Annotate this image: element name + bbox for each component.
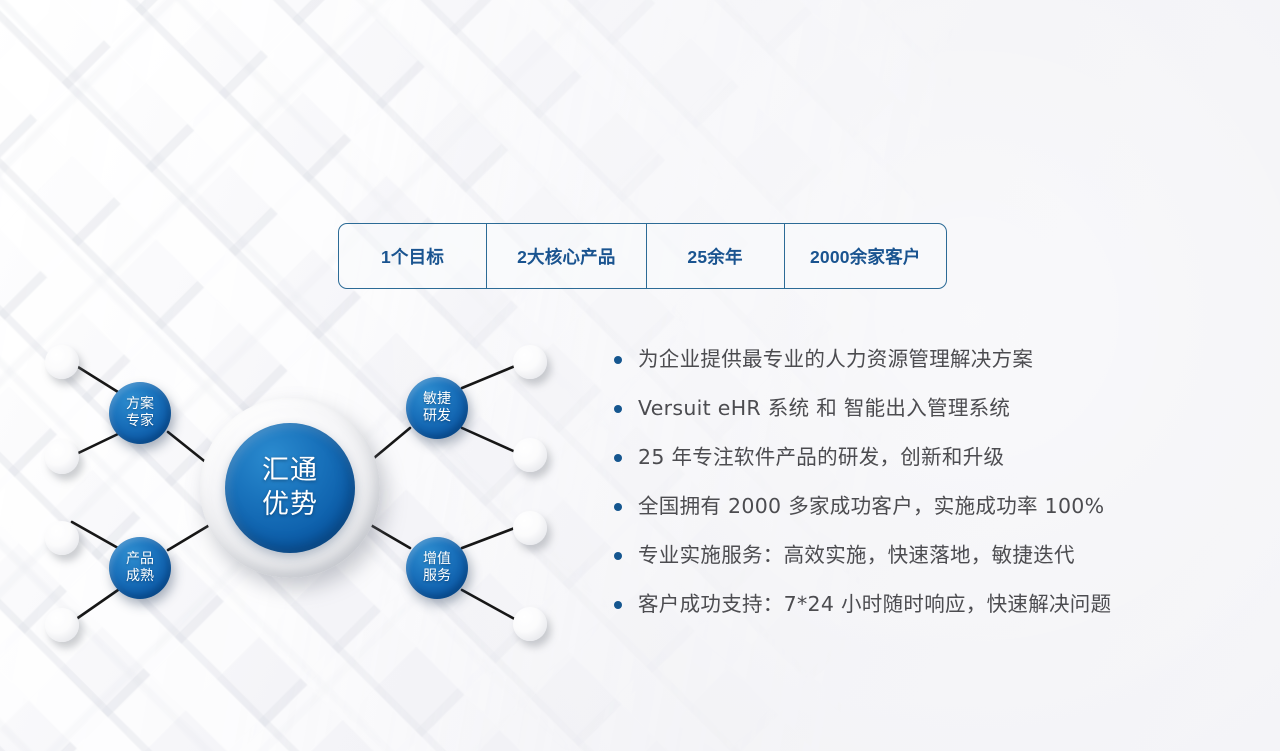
node-label-line2: 成熟 (126, 568, 154, 585)
diagram-hub[interactable]: 汇通 优势 (200, 398, 380, 578)
endpoint-sphere (45, 345, 79, 379)
node-label-line2: 研发 (423, 408, 451, 425)
bullet-dot-icon (614, 503, 622, 511)
node-label-line2: 专家 (126, 413, 154, 430)
node-label-line1: 产品 (126, 551, 154, 568)
stat-cell-goal[interactable]: 1个目标 (339, 224, 487, 288)
node-agile-rd[interactable]: 敏捷 研发 (406, 377, 468, 439)
list-item: 为企业提供最专业的人力资源管理解决方案 (614, 345, 1234, 394)
bullet-dot-icon (614, 405, 622, 413)
endpoint-sphere (45, 521, 79, 555)
hub-label-line2: 优势 (262, 488, 318, 522)
hub-core: 汇通 优势 (225, 423, 355, 553)
endpoint-sphere (45, 440, 79, 474)
endpoint-sphere (513, 511, 547, 545)
connector-line (72, 590, 118, 622)
list-item: 专业实施服务：高效实施，快速落地，敏捷迭代 (614, 541, 1234, 590)
endpoint-sphere (513, 438, 547, 472)
stat-label: 25余年 (687, 244, 742, 269)
endpoint-sphere (513, 345, 547, 379)
node-label-line1: 敏捷 (423, 391, 451, 408)
connector-line (462, 364, 520, 388)
list-item: 全国拥有 2000 多家成功客户，实施成功率 100% (614, 492, 1234, 541)
connector-line (462, 526, 520, 548)
stat-label: 1个目标 (381, 244, 444, 269)
connector-line (462, 428, 520, 454)
list-item-label: 全国拥有 2000 多家成功客户，实施成功率 100% (638, 492, 1104, 520)
stat-cell-years[interactable]: 25余年 (647, 224, 785, 288)
node-label-line2: 服务 (423, 568, 451, 585)
node-label-line1: 增值 (423, 551, 451, 568)
node-plan-expert[interactable]: 方案 专家 (109, 382, 171, 444)
list-item: 25 年专注软件产品的研发，创新和升级 (614, 443, 1234, 492)
stat-cell-products[interactable]: 2大核心产品 (487, 224, 647, 288)
benefits-bullet-list: 为企业提供最专业的人力资源管理解决方案 Versuit eHR 系统 和 智能出… (614, 345, 1234, 639)
list-item-label: Versuit eHR 系统 和 智能出入管理系统 (638, 394, 1010, 422)
stat-bar: 1个目标 2大核心产品 25余年 2000余家客户 (338, 223, 947, 289)
bullet-dot-icon (614, 454, 622, 462)
list-item-label: 专业实施服务：高效实施，快速落地，敏捷迭代 (638, 541, 1075, 569)
hub-label-line1: 汇通 (262, 454, 318, 488)
list-item: Versuit eHR 系统 和 智能出入管理系统 (614, 394, 1234, 443)
stat-label: 2大核心产品 (517, 244, 615, 269)
node-mature-product[interactable]: 产品 成熟 (109, 537, 171, 599)
node-label-line1: 方案 (126, 396, 154, 413)
connector-line (462, 590, 520, 622)
bullet-dot-icon (614, 356, 622, 364)
connector-line (72, 522, 118, 548)
endpoint-sphere (45, 608, 79, 642)
list-item: 客户成功支持：7*24 小时随时响应，快速解决问题 (614, 590, 1234, 639)
slide-canvas: 1个目标 2大核心产品 25余年 2000余家客户 为企业提供最专业的人力资源管… (0, 0, 1280, 751)
node-value-service[interactable]: 增值 服务 (406, 537, 468, 599)
list-item-label: 25 年专注软件产品的研发，创新和升级 (638, 443, 1004, 471)
endpoint-sphere (513, 607, 547, 641)
list-item-label: 为企业提供最专业的人力资源管理解决方案 (638, 345, 1033, 373)
bullet-dot-icon (614, 552, 622, 560)
list-item-label: 客户成功支持：7*24 小时随时响应，快速解决问题 (638, 590, 1111, 618)
stat-label: 2000余家客户 (810, 244, 921, 269)
bullet-dot-icon (614, 601, 622, 609)
stat-cell-customers[interactable]: 2000余家客户 (785, 224, 946, 288)
